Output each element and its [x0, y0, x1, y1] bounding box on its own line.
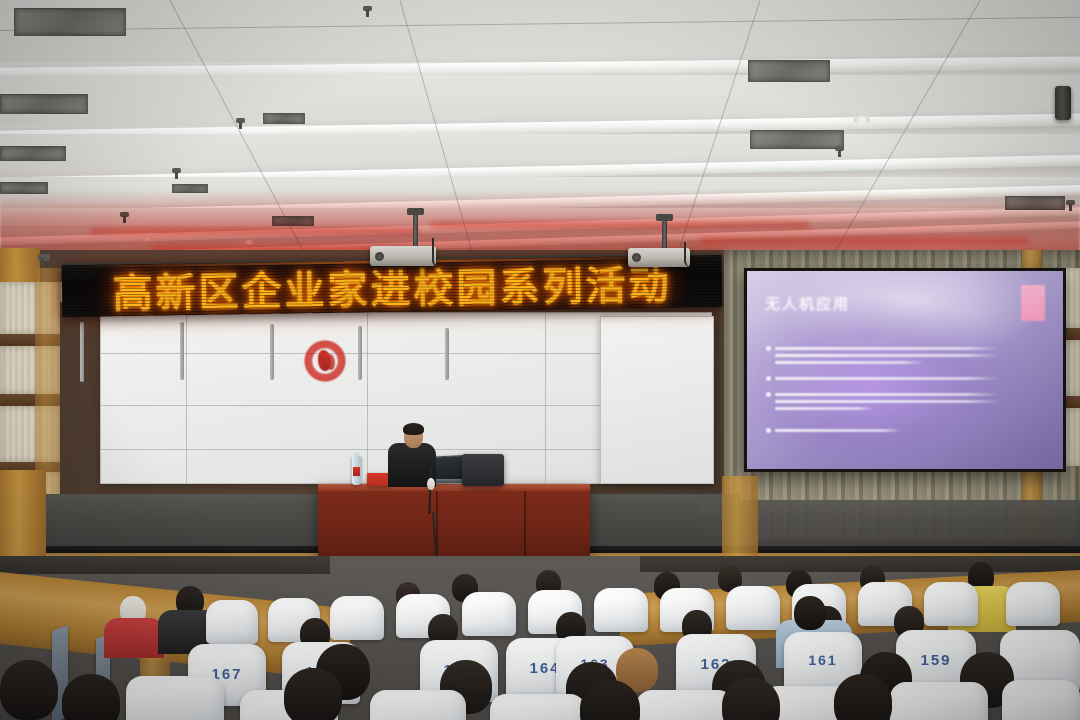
- bullet-dot-icon: [766, 428, 771, 433]
- panel-handle[interactable]: [180, 322, 184, 380]
- speaker-hair: [403, 423, 424, 435]
- audience-seat[interactable]: [462, 592, 516, 636]
- lecture-podium: [318, 484, 590, 556]
- audience-seat-front[interactable]: [1002, 680, 1080, 720]
- bullet-dot-icon: [766, 392, 771, 397]
- slide-title: 无人机应用: [765, 293, 850, 314]
- projection-screen: 无人机应用: [747, 271, 1063, 469]
- ceiling-speaker: [1055, 86, 1071, 120]
- microphone-head-icon: [427, 478, 435, 490]
- air-vent: [0, 94, 88, 114]
- auditorium-photo: 高新区企业家进校园系列活动 无人机应用: [0, 0, 1080, 720]
- panel-handle[interactable]: [80, 322, 84, 382]
- audience-head-front: [284, 668, 342, 720]
- projector-left: [370, 246, 436, 266]
- podium-seam: [524, 491, 526, 556]
- panel-handle[interactable]: [270, 324, 274, 380]
- slide-bullet-group: [747, 429, 1063, 436]
- audience-head: [794, 596, 826, 630]
- audience-seat[interactable]: [924, 582, 978, 626]
- audience-seat-front[interactable]: [126, 676, 224, 720]
- led-glow-stripe: [90, 228, 420, 234]
- projector-cable: [432, 238, 456, 268]
- air-vent: [750, 130, 844, 149]
- seat-number: 161: [784, 652, 862, 668]
- audience-head-front: [0, 660, 58, 720]
- projector-right: [628, 248, 690, 267]
- slide-bullet-line: [775, 354, 1000, 357]
- slide-bullet-line: [775, 347, 1000, 350]
- slide-bullet-line: [775, 393, 1000, 396]
- audience-seat-front[interactable]: [370, 690, 466, 720]
- stage-side-wood-right: [722, 476, 758, 560]
- slide-accent-block: [1021, 285, 1045, 321]
- audience-seat[interactable]: [726, 586, 780, 630]
- slide-bullet-group: [747, 377, 1063, 384]
- led-glow-stripe: [700, 238, 1030, 244]
- projector-mount-arm: [662, 218, 667, 250]
- panel-seam: [186, 313, 187, 483]
- air-vent: [0, 146, 66, 161]
- audience-seat[interactable]: [594, 588, 648, 632]
- side-wall-dark-left: [0, 556, 330, 574]
- side-wall-dark-right: [640, 556, 1080, 572]
- slide-bullet-line: [775, 400, 1000, 403]
- security-camera: [38, 254, 50, 261]
- slide-bullet-line: [775, 361, 925, 364]
- ceiling: [0, 0, 1080, 252]
- air-vent: [263, 113, 305, 124]
- air-vent: [748, 60, 830, 82]
- audience-head-front: [62, 674, 120, 720]
- stage-side-wood-left: [0, 470, 46, 558]
- ceiling-panel: [0, 0, 1080, 62]
- slide-bullet-line: [775, 429, 902, 432]
- panel-handle[interactable]: [445, 328, 449, 380]
- panel-seam: [545, 313, 546, 483]
- slide-bullet-line: [775, 377, 1000, 380]
- projection-screen-frame: 无人机应用: [744, 268, 1066, 472]
- projector-lens-icon: [632, 253, 641, 262]
- projector-lens-icon: [375, 252, 384, 261]
- wall-panel-right: [600, 316, 714, 484]
- audience-seat[interactable]: [330, 596, 384, 640]
- projector-cable: [684, 242, 704, 268]
- podium-top-surface: [318, 484, 590, 491]
- bullet-dot-icon: [766, 376, 771, 381]
- panel-seam: [367, 313, 368, 483]
- led-glow-stripe: [430, 222, 810, 228]
- audience-head-front: [834, 674, 892, 720]
- audience-shoulders: [104, 618, 164, 658]
- slide-bullet-line: [775, 407, 873, 410]
- sprinkler-head: [363, 6, 372, 11]
- air-vent: [14, 8, 126, 36]
- panel-handle[interactable]: [358, 326, 362, 380]
- slide-bullet-group: [747, 347, 1063, 368]
- smoke-detector: [854, 116, 870, 124]
- bullet-dot-icon: [766, 346, 771, 351]
- audience-seat-front[interactable]: [490, 694, 586, 720]
- water-bottle: [352, 456, 361, 485]
- audience-seat-front[interactable]: [890, 682, 988, 720]
- projector-mount-arm: [413, 212, 418, 248]
- presenter-chair: [462, 454, 504, 486]
- sprinkler-head: [236, 118, 245, 123]
- audience-seat[interactable]: [206, 600, 258, 644]
- school-crest-mark: [326, 354, 335, 370]
- audience-seat[interactable]: [1006, 582, 1060, 626]
- sprinkler-head: [835, 146, 844, 151]
- slide-bullet-group: [747, 393, 1063, 414]
- sprinkler-head: [172, 168, 181, 173]
- audience-seat-front[interactable]: [636, 690, 734, 720]
